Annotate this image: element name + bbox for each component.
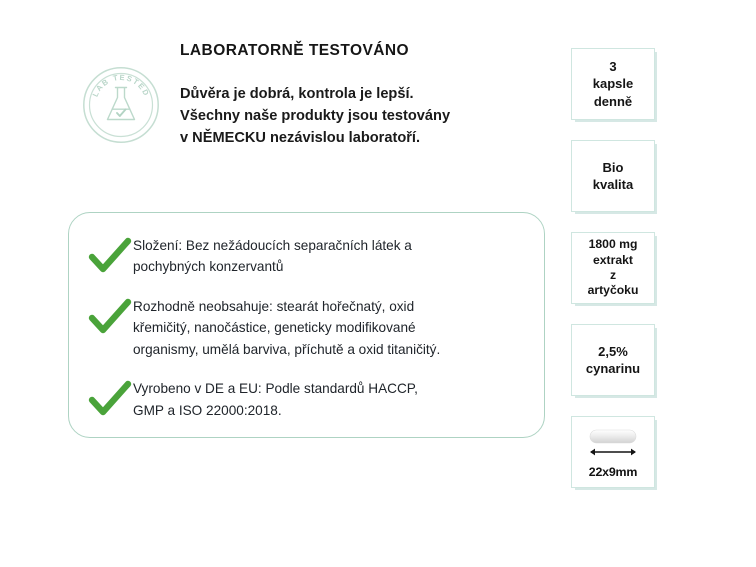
header-subtitle: Důvěra je dobrá, kontrola je lepší. Všec… [180,83,540,150]
check-icon [87,236,133,276]
list-item: Složení: Bez nežádoucích separačních lát… [87,233,530,278]
list-item-line: Rozhodně neobsahuje: stearát hořečnatý, … [133,296,440,317]
header-subtitle-line: Všechny naše produkty jsou testovány [180,105,540,127]
list-item-line: pochybných konzervantů [133,256,412,277]
capsule-size-label: 22x9mm [589,465,637,479]
feature-line: Bio [603,159,624,176]
feature-line: cynarinu [586,360,640,377]
check-icon [87,297,133,337]
double-arrow-icon [590,448,636,455]
feature-box-column: 3 kapsle denně Bio kvalita 1800 mg extra… [571,48,655,488]
list-item-line: Složení: Bez nežádoucích separačních lát… [133,235,412,256]
feature-line: kvalita [593,176,633,193]
checklist: Složení: Bez nežádoucích separačních lát… [87,233,530,421]
page-title: LABORATORNĚ TESTOVÁNO [180,42,540,61]
feature-line: extrakt [593,253,633,268]
feature-line: z [610,268,616,283]
feature-box-quality: Bio kvalita [571,140,655,212]
header-block: LABORATORNĚ TESTOVÁNO Důvěra je dobrá, k… [180,42,540,149]
list-item-text: Složení: Bez nežádoucích separačních lát… [133,233,412,278]
feature-box-cynarin: 2,5% cynarinu [571,324,655,396]
list-item-text: Vyrobeno v DE a EU: Podle standardů HACC… [133,376,418,421]
feature-line: 2,5% [598,343,628,360]
list-item-text: Rozhodně neobsahuje: stearát hořečnatý, … [133,294,440,360]
check-icon [87,379,133,419]
badge-curved-text: LAB TESTED [91,73,152,98]
list-item: Rozhodně neobsahuje: stearát hořečnatý, … [87,294,530,360]
feature-line: 1800 mg [589,237,638,252]
list-item-line: organismy, umělá barviva, příchutě a oxi… [133,339,440,360]
header-subtitle-line: v NĚMECKU nezávislou laboratoří. [180,127,540,149]
list-item-line: křemičitý, nanočástice, geneticky modifi… [133,317,440,338]
check-icon [117,109,126,116]
feature-line: artyčoku [588,283,639,298]
list-item-line: Vyrobeno v DE a EU: Podle standardů HACC… [133,378,418,399]
feature-line: denně [594,93,632,110]
feature-box-dosage: 3 kapsle denně [571,48,655,120]
capsule-icon [583,426,643,464]
feature-box-capsule-size: 22x9mm [571,416,655,488]
lab-tested-flask-badge: LAB TESTED [82,66,160,144]
feature-line: 3 [609,58,616,75]
feature-line: kapsle [593,75,633,92]
lab-tested-badge: LAB TESTED [82,66,160,144]
list-item: Vyrobeno v DE a EU: Podle standardů HACC… [87,376,530,421]
header-subtitle-line: Důvěra je dobrá, kontrola je lepší. [180,83,540,105]
checklist-card: Složení: Bez nežádoucích separačních lát… [68,212,545,438]
list-item-line: GMP a ISO 22000:2018. [133,400,418,421]
feature-box-extract: 1800 mg extrakt z artyčoku [571,232,655,304]
